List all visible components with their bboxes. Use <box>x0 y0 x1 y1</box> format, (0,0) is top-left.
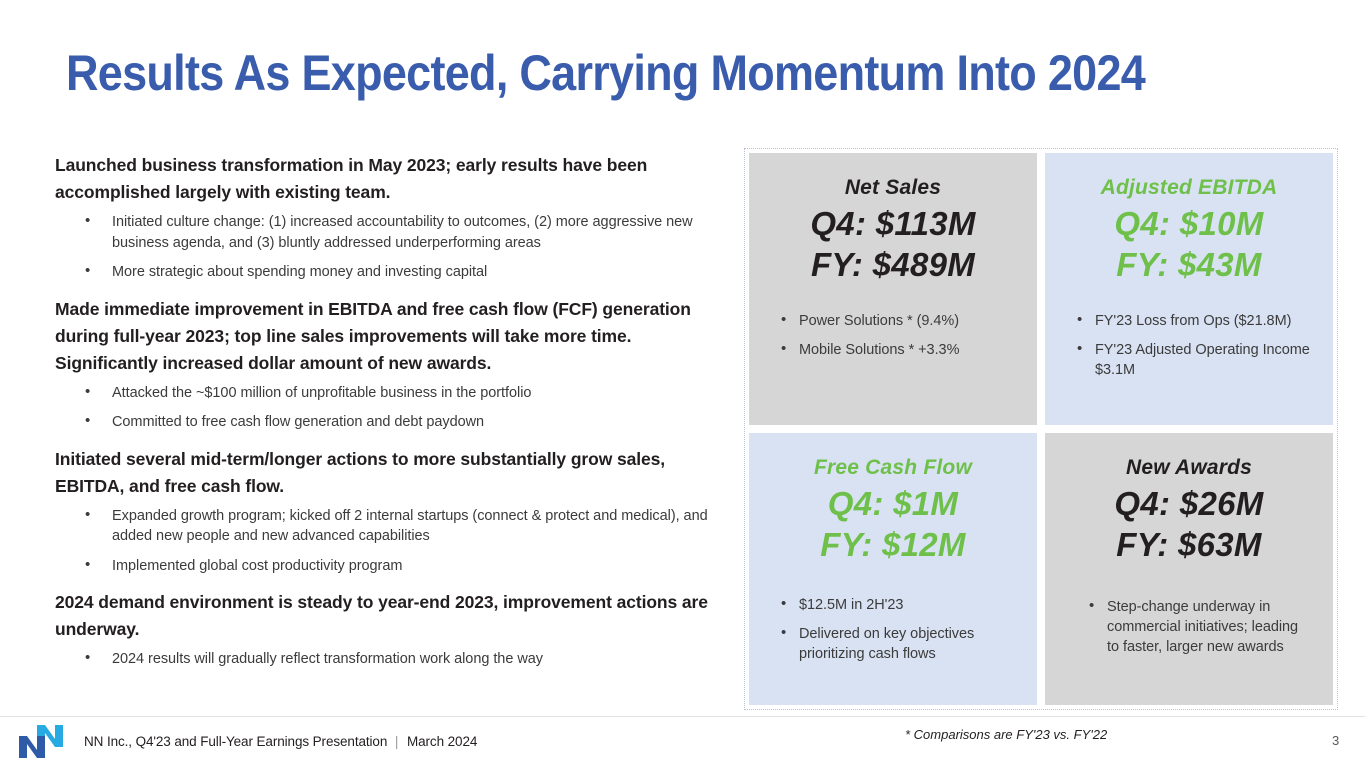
list-item: • Power Solutions * (9.4%) <box>781 311 1017 331</box>
metric-card-title: Net Sales <box>765 175 1021 201</box>
list-item-text: FY'23 Loss from Ops ($21.8M) <box>1095 313 1291 329</box>
metric-card-adjusted-ebitda: Adjusted EBITDA Q4: $10M FY: $43M • FY'2… <box>1045 153 1333 425</box>
bullet-icon: • <box>85 382 90 403</box>
message-heading: Launched business transformation in May … <box>55 152 720 206</box>
comparison-footnote: * Comparisons are FY'23 vs. FY'22 <box>905 727 1107 742</box>
metric-card-free-cash-flow: Free Cash Flow Q4: $1M FY: $12M • $12.5M… <box>749 433 1037 705</box>
bullet-icon: • <box>1077 339 1082 359</box>
message-heading: 2024 demand environment is steady to yea… <box>55 589 720 643</box>
list-item: • Delivered on key objectives prioritizi… <box>781 624 1017 664</box>
metric-card-q4-value: Q4: $26M <box>1061 483 1317 524</box>
list-item-text: Mobile Solutions * +3.3% <box>799 342 959 358</box>
metric-card-fy-value: FY: $489M <box>765 244 1021 285</box>
bullet-icon: • <box>1089 596 1094 616</box>
metric-card-fy-value: FY: $43M <box>1061 244 1317 285</box>
bullet-icon: • <box>781 594 786 614</box>
list-item-text: Initiated culture change: (1) increased … <box>112 214 693 251</box>
page-title: Results As Expected, Carrying Momentum I… <box>66 44 1191 102</box>
bullet-icon: • <box>781 623 786 643</box>
list-item: • Step-change underway in commercial ini… <box>1089 597 1313 657</box>
metric-card-fy-value: FY: $12M <box>765 524 1021 565</box>
metric-card-title: Adjusted EBITDA <box>1061 175 1317 201</box>
message-bullet-list: • Expanded growth program; kicked off 2 … <box>55 506 720 577</box>
nn-logo <box>17 723 63 761</box>
metric-card-net-sales: Net Sales Q4: $113M FY: $489M • Power So… <box>749 153 1037 425</box>
list-item: • Attacked the ~$100 million of unprofit… <box>85 383 720 404</box>
message-bullet-list: • Initiated culture change: (1) increase… <box>55 212 720 283</box>
footer-company-line: NN Inc., Q4'23 and Full-Year Earnings Pr… <box>84 734 387 749</box>
message-heading: Initiated several mid-term/longer action… <box>55 446 720 500</box>
message-heading: Made immediate improvement in EBITDA and… <box>55 296 720 377</box>
bullet-icon: • <box>85 505 90 526</box>
metric-card-bullet-list: • Step-change underway in commercial ini… <box>1061 597 1317 657</box>
list-item: • FY'23 Loss from Ops ($21.8M) <box>1077 311 1313 331</box>
metrics-grid-container: Net Sales Q4: $113M FY: $489M • Power So… <box>744 148 1338 710</box>
metric-card-q4-value: Q4: $10M <box>1061 203 1317 244</box>
metric-card-bullet-list: • Power Solutions * (9.4%) • Mobile Solu… <box>765 311 1021 360</box>
list-item-text: Power Solutions * (9.4%) <box>799 313 959 329</box>
footer-divider <box>0 716 1365 717</box>
bullet-icon: • <box>85 261 90 282</box>
list-item-text: Delivered on key objectives prioritizing… <box>799 626 974 662</box>
metric-card-title: Free Cash Flow <box>765 455 1021 481</box>
footer-separator: | <box>395 733 398 751</box>
key-messages-column: Launched business transformation in May … <box>55 152 720 683</box>
bullet-icon: • <box>85 648 90 669</box>
list-item: • $12.5M in 2H'23 <box>781 595 1017 615</box>
message-block-2: Made immediate improvement in EBITDA and… <box>55 296 720 433</box>
bullet-icon: • <box>781 339 786 359</box>
message-bullet-list: • 2024 results will gradually reflect tr… <box>55 649 720 670</box>
list-item-text: 2024 results will gradually reflect tran… <box>112 651 543 667</box>
bullet-icon: • <box>781 310 786 330</box>
message-block-3: Initiated several mid-term/longer action… <box>55 446 720 577</box>
list-item: • More strategic about spending money an… <box>85 262 720 283</box>
list-item-text: Step-change underway in commercial initi… <box>1107 599 1298 655</box>
bullet-icon: • <box>85 411 90 432</box>
list-item: • Implemented global cost productivity p… <box>85 556 720 577</box>
metric-card-q4-value: Q4: $1M <box>765 483 1021 524</box>
metric-card-new-awards: New Awards Q4: $26M FY: $63M • Step-chan… <box>1045 433 1333 705</box>
list-item-text: FY'23 Adjusted Operating Income $3.1M <box>1095 342 1310 378</box>
list-item-text: Attacked the ~$100 million of unprofitab… <box>112 385 531 401</box>
list-item: • Committed to free cash flow generation… <box>85 412 720 433</box>
bullet-icon: • <box>85 555 90 576</box>
list-item-text: More strategic about spending money and … <box>112 264 487 280</box>
metric-card-fy-value: FY: $63M <box>1061 524 1317 565</box>
list-item: • FY'23 Adjusted Operating Income $3.1M <box>1077 340 1313 380</box>
footer-caption: NN Inc., Q4'23 and Full-Year Earnings Pr… <box>84 733 477 751</box>
list-item-text: Committed to free cash flow generation a… <box>112 414 484 430</box>
list-item: • Expanded growth program; kicked off 2 … <box>85 506 720 547</box>
message-bullet-list: • Attacked the ~$100 million of unprofit… <box>55 383 720 433</box>
bullet-icon: • <box>1077 310 1082 330</box>
list-item-text: $12.5M in 2H'23 <box>799 597 903 613</box>
metric-card-q4-value: Q4: $113M <box>765 203 1021 244</box>
list-item: • Initiated culture change: (1) increase… <box>85 212 720 253</box>
footer-date: March 2024 <box>407 734 477 749</box>
metric-card-bullet-list: • FY'23 Loss from Ops ($21.8M) • FY'23 A… <box>1061 311 1317 380</box>
message-block-1: Launched business transformation in May … <box>55 152 720 283</box>
page-number: 3 <box>1332 733 1339 748</box>
message-block-4: 2024 demand environment is steady to yea… <box>55 589 720 670</box>
metrics-grid: Net Sales Q4: $113M FY: $489M • Power So… <box>749 153 1333 705</box>
list-item-text: Expanded growth program; kicked off 2 in… <box>112 508 708 545</box>
bullet-icon: • <box>85 211 90 232</box>
metric-card-bullet-list: • $12.5M in 2H'23 • Delivered on key obj… <box>765 595 1021 664</box>
list-item-text: Implemented global cost productivity pro… <box>112 558 402 574</box>
metric-card-title: New Awards <box>1061 455 1317 481</box>
list-item: • 2024 results will gradually reflect tr… <box>85 649 720 670</box>
list-item: • Mobile Solutions * +3.3% <box>781 340 1017 360</box>
